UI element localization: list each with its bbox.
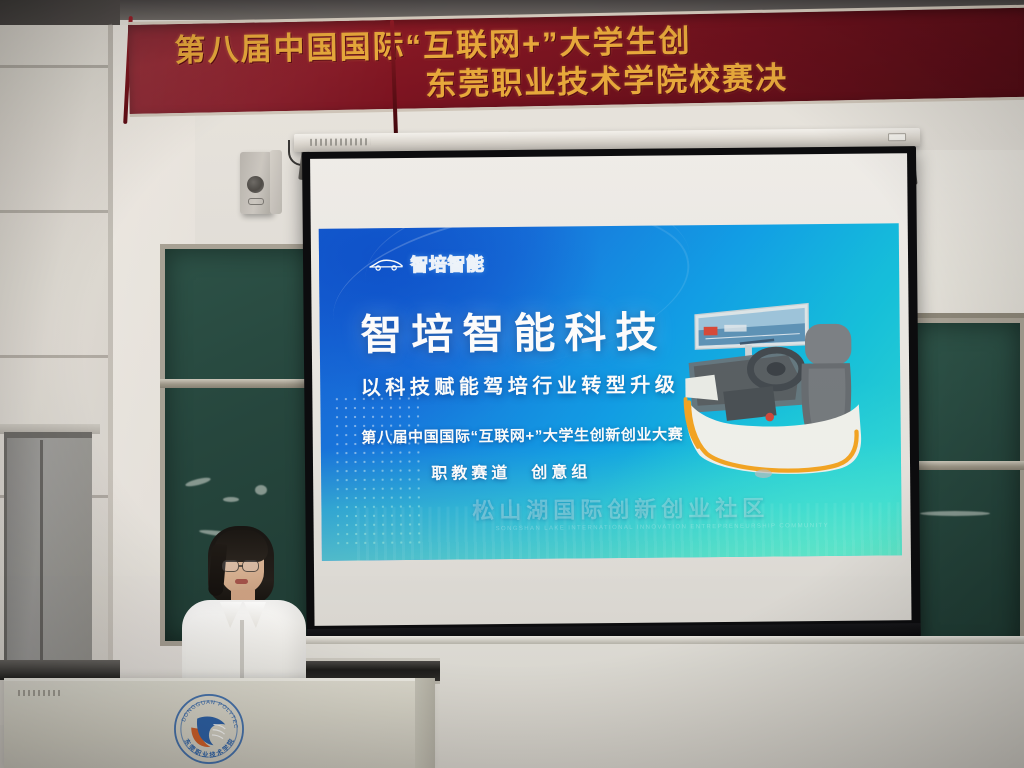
glasses-bridge xyxy=(239,565,243,567)
lower-wall-rail xyxy=(190,636,1024,644)
slide-competition-name: 第八届中国国际“互联网+”大学生创新创业大赛 xyxy=(361,423,683,447)
housing-indicator xyxy=(888,133,906,141)
projection-screen-frame: 智培智能 智培智能科技 以科技赋能驾培行业转型升级 第八届中国国际“互联网+”大… xyxy=(302,146,921,642)
brand-logo-text: 智培智能 xyxy=(410,250,484,277)
glasses-left-lens xyxy=(222,560,239,572)
slide-track-group: 职教赛道 创意组 xyxy=(431,459,591,485)
dongguan-polytechnic-emblem: DONGGUAN POLYTECHNIC 东莞职业技术学院 xyxy=(172,692,246,766)
speaker-cone-icon xyxy=(247,176,264,193)
projected-slide: 智培智能 智培智能科技 以科技赋能驾培行业转型升级 第八届中国国际“互联网+”大… xyxy=(319,223,902,561)
presenter xyxy=(176,524,308,704)
door-seam xyxy=(40,440,43,660)
glasses-right-lens xyxy=(242,560,259,572)
event-banner: 第八届中国国际“互联网+”大学生创 东莞职业技术学院校赛决 xyxy=(128,5,1024,117)
side-door[interactable] xyxy=(4,432,92,662)
driving-simulator-illustration xyxy=(679,243,879,544)
classroom-presentation-photo: 第八届中国国际“互联网+”大学生创 东莞职业技术学院校赛决 xyxy=(0,0,1024,768)
speaker-tweeter xyxy=(248,198,264,205)
brand-logo: 智培智能 xyxy=(368,250,484,277)
slide-subtitle: 以科技赋能驾培行业转型升级 xyxy=(361,368,680,400)
car-outline-icon xyxy=(368,256,404,272)
lectern-label xyxy=(18,690,62,696)
whiteboard-panel-right xyxy=(905,150,1024,320)
projection-screen-surface: 智培智能 智培智能科技 以科技赋能驾培行业转型升级 第八届中国国际“互联网+”大… xyxy=(310,153,911,626)
housing-label xyxy=(310,138,370,146)
blackboard-right xyxy=(905,318,1024,658)
sim-monitor xyxy=(695,303,809,357)
speaker-mount-arm xyxy=(270,150,282,214)
desk-shadow-left xyxy=(0,660,120,680)
chalk-rail-right xyxy=(905,461,1024,470)
slide-title: 智培智能科技 xyxy=(360,299,667,363)
lectern-side-panel xyxy=(415,678,435,768)
presenter-mouth xyxy=(235,579,248,584)
